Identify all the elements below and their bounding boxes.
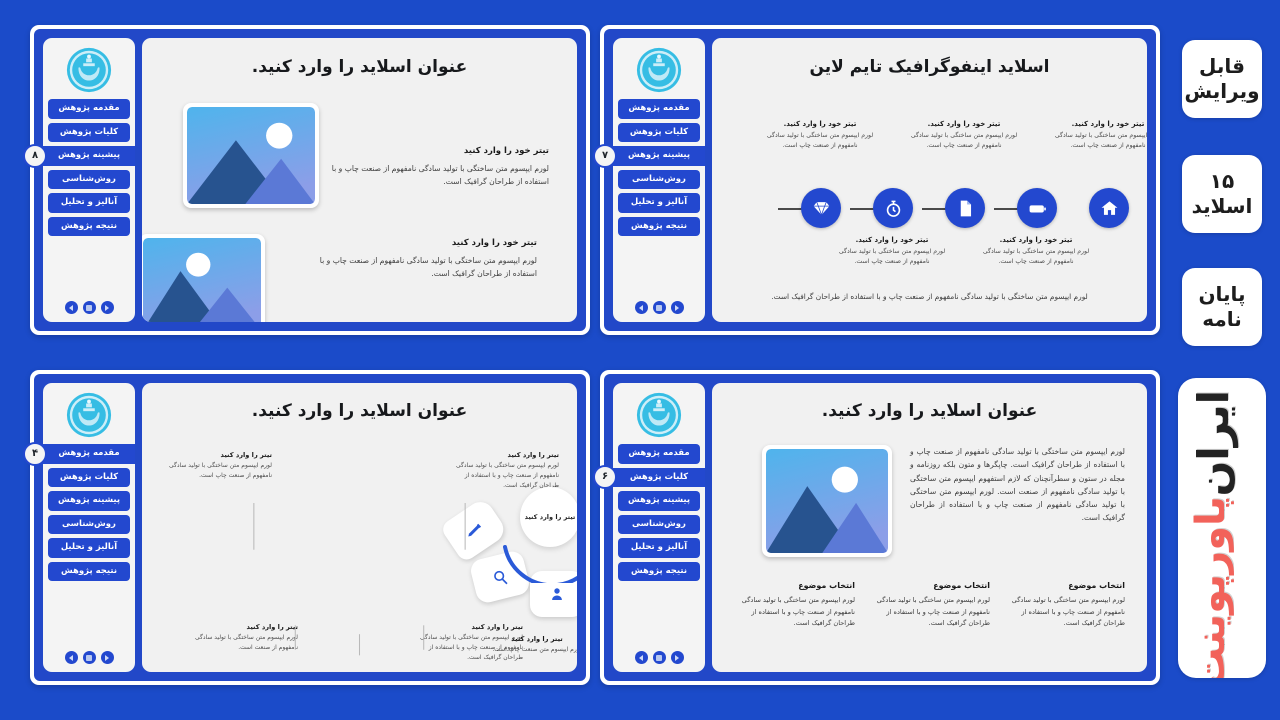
- timeline-caption-4-heading: تیتر خود را وارد کنید.: [761, 120, 879, 128]
- slide-4-column-1-text: لورم ایپسوم متن ساختگی با تولید سادگی نا…: [869, 595, 990, 630]
- slide-3-nav-controls: [65, 646, 114, 666]
- document-icon: [956, 199, 975, 218]
- slide-4-column-2: انتخاب موضوع لورم ایپسوم متن ساختگی با ت…: [734, 581, 855, 630]
- feature-chip-editable-line2: ویرایش: [1184, 79, 1259, 104]
- menu-item-1[interactable]: کلیات پژوهش: [618, 123, 700, 143]
- slide-1-block-0-heading: تیتر خود را وارد کنید: [331, 146, 549, 156]
- feature-chip-thesis-line2: نامه: [1202, 307, 1242, 332]
- timeline-caption-0-heading: تیتر خود را وارد کنید.: [1049, 120, 1147, 128]
- fan-petal-0[interactable]: [439, 497, 508, 564]
- slide-2-sidebar: مقدمه پژوهش کلیات پژوهش پیشینه پژوهش ۷ ر…: [613, 38, 705, 322]
- slide-4-menu: مقدمه پژوهش کلیات پژوهش ۶ پیشینه پژوهش ر…: [618, 444, 700, 646]
- slide-4-column-0: انتخاب موضوع لورم ایپسوم متن ساختگی با ت…: [1004, 581, 1125, 630]
- prev-triangle-icon[interactable]: [671, 301, 684, 314]
- slide-4-nav-controls: [635, 646, 684, 666]
- slide-2-canvas: اسلاید اینفوگرافیک تایم لاین: [712, 38, 1147, 322]
- menu-item-4[interactable]: آنالیز و تحلیل: [618, 193, 700, 213]
- slide-3-sidebar: مقدمه پژوهش ۴ کلیات پژوهش پیشینه پژوهش ر…: [43, 383, 135, 672]
- next-triangle-icon[interactable]: [635, 301, 648, 314]
- menu-item-3[interactable]: روش‌شناسی: [48, 515, 130, 535]
- menu-item-4[interactable]: آنالیز و تحلیل: [48, 193, 130, 213]
- university-logo-icon: [65, 391, 113, 439]
- timeline-caption-3-heading: تیتر خود را وارد کنید.: [833, 236, 951, 244]
- prev-triangle-icon[interactable]: [101, 301, 114, 314]
- slide-1-block-0: تیتر خود را وارد کنید لورم ایپسوم متن سا…: [331, 146, 549, 189]
- slide-4-column-0-heading: انتخاب موضوع: [1004, 581, 1125, 590]
- slide-3-menu: مقدمه پژوهش ۴ کلیات پژوهش پیشینه پژوهش ر…: [48, 444, 130, 646]
- fan-caption-3: تیتر را وارد کنید لورم ایپسوم متن ساختگی…: [186, 623, 298, 653]
- fan-caption-3-heading: تیتر را وارد کنید: [186, 623, 298, 631]
- feature-chip-slide-count-line1: ۱۵: [1210, 169, 1234, 194]
- slide-2-nav-controls: [635, 296, 684, 316]
- slide-2[interactable]: مقدمه پژوهش کلیات پژوهش پیشینه پژوهش ۷ ر…: [600, 25, 1160, 335]
- menu-item-2-label: پیشینه پژوهش: [628, 150, 690, 160]
- fan-center-text: تیتر را وارد کنید: [525, 513, 576, 521]
- gem-icon: [812, 199, 831, 218]
- menu-item-0[interactable]: مقدمه پژوهش ۴: [43, 444, 135, 464]
- slide-1-block-0-text: لورم ایپسوم متن ساختگی با تولید سادگی نا…: [331, 162, 549, 189]
- fan-petal-1[interactable]: [468, 549, 531, 605]
- timeline-caption-2-text: لورم ایپسوم متن ساختگی با تولید سادگی نا…: [905, 131, 1023, 151]
- slide-4-photo: [762, 445, 892, 557]
- slide-3[interactable]: مقدمه پژوهش ۴ کلیات پژوهش پیشینه پژوهش ر…: [30, 370, 590, 685]
- slide-number-badge: ۸: [23, 144, 47, 168]
- stop-square-icon[interactable]: [83, 651, 96, 664]
- fan-caption-4-heading: تیتر را وارد کنید: [160, 451, 272, 459]
- slide-1[interactable]: مقدمه پژوهش کلیات پژوهش پیشینه پژوهش ۸ ر…: [30, 25, 590, 335]
- brand-name-red: پاورپوینت: [1186, 496, 1236, 678]
- timeline-node-2[interactable]: [945, 188, 985, 228]
- feature-chip-editable-line1: قابل: [1199, 54, 1245, 79]
- fan-petal-2[interactable]: [530, 571, 577, 617]
- menu-item-0[interactable]: مقدمه پژوهش: [618, 99, 700, 119]
- timeline-caption-1: تیتر خود را وارد کنید. لورم ایپسوم متن س…: [977, 236, 1095, 267]
- feature-chip-slide-count-line2: اسلاید: [1192, 194, 1253, 219]
- slide-4-column-2-heading: انتخاب موضوع: [734, 581, 855, 590]
- fan-center-label: تیتر را وارد کنید: [520, 487, 577, 547]
- fan-caption-2: تیتر را وارد کنید لورم ایپسوم متن صنعت چ…: [487, 635, 577, 655]
- slide-4-column-1: انتخاب موضوع لورم ایپسوم متن ساختگی با ت…: [869, 581, 990, 630]
- stopwatch-icon: [884, 199, 903, 218]
- fan-caption-3-text: لورم ایپسوم متن ساختگی با تولید سادگی نا…: [186, 633, 298, 653]
- university-logo-icon: [635, 46, 683, 94]
- timeline-node-3[interactable]: [873, 188, 913, 228]
- fan-caption-0-heading: تیتر را وارد کنید: [447, 451, 559, 459]
- timeline-caption-4-text: لورم ایپسوم متن ساختگی با تولید سادگی نا…: [761, 131, 879, 151]
- slide-1-menu: مقدمه پژوهش کلیات پژوهش پیشینه پژوهش ۸ ر…: [48, 99, 130, 296]
- timeline-node-0[interactable]: [1089, 188, 1129, 228]
- slide-2-menu: مقدمه پژوهش کلیات پژوهش پیشینه پژوهش ۷ ر…: [618, 99, 700, 296]
- feature-chip-thesis: پایان نامه: [1182, 268, 1262, 346]
- timeline-caption-1-text: لورم ایپسوم متن ساختگی با تولید سادگی نا…: [977, 247, 1095, 267]
- feature-chip-editable: قابل ویرایش: [1182, 40, 1262, 118]
- next-triangle-icon[interactable]: [635, 651, 648, 664]
- timeline-caption-3-text: لورم ایپسوم متن ساختگی با تولید سادگی نا…: [833, 247, 951, 267]
- slide-number-badge: ۶: [593, 465, 617, 489]
- menu-item-5[interactable]: نتیجه پژوهش: [48, 217, 130, 237]
- timeline-caption-2: تیتر خود را وارد کنید. لورم ایپسوم متن س…: [905, 120, 1023, 151]
- menu-item-1[interactable]: کلیات پژوهش: [48, 123, 130, 143]
- fan-caption-0: تیتر را وارد کنید لورم ایپسوم متن ساختگی…: [447, 451, 559, 492]
- next-triangle-icon[interactable]: [65, 301, 78, 314]
- fan-caption-2-heading: تیتر را وارد کنید: [487, 635, 577, 643]
- timeline-caption-1-heading: تیتر خود را وارد کنید.: [977, 236, 1095, 244]
- slide-2-footer-text: لورم ایپسوم متن ساختگی با تولید سادگی نا…: [728, 291, 1131, 304]
- menu-item-2[interactable]: پیشینه پژوهش: [48, 491, 130, 511]
- menu-item-5[interactable]: نتیجه پژوهش: [618, 562, 700, 582]
- slide-number-badge: ۴: [23, 442, 47, 466]
- magnifier-icon: [492, 569, 509, 586]
- menu-item-0[interactable]: مقدمه پژوهش: [48, 99, 130, 119]
- slide-3-title: عنوان اسلاید را وارد کنید.: [162, 401, 557, 421]
- timeline-caption-2-heading: تیتر خود را وارد کنید.: [905, 120, 1023, 128]
- menu-item-2[interactable]: پیشینه پژوهش ۷: [613, 146, 705, 166]
- timeline-node-1[interactable]: [1017, 188, 1057, 228]
- slide-4-paragraph: لورم ایپسوم متن ساختگی با تولید سادگی نا…: [910, 445, 1125, 525]
- menu-item-5[interactable]: نتیجه پژوهش: [48, 562, 130, 582]
- stop-square-icon[interactable]: [653, 651, 666, 664]
- brand-name-dark: ایران: [1188, 390, 1241, 497]
- poster-canvas: مقدمه پژوهش کلیات پژوهش پیشینه پژوهش ۸ ر…: [0, 0, 1280, 720]
- fan-caption-1-heading: تیتر را وارد کنید: [411, 623, 523, 631]
- slide-1-nav-controls: [65, 296, 114, 316]
- timeline-caption-0: تیتر خود را وارد کنید. لورم ایپسوم متن س…: [1049, 120, 1147, 151]
- menu-item-4[interactable]: آنالیز و تحلیل: [618, 538, 700, 558]
- slide-1-block-1: تیتر خود را وارد کنید لورم ایپسوم متن سا…: [319, 238, 537, 281]
- slide-2-title: اسلاید اینفوگرافیک تایم لاین: [732, 57, 1127, 77]
- menu-item-0-label: مقدمه پژوهش: [58, 448, 119, 458]
- fan-caption-4-text: لورم ایپسوم متن ساختگی با تولید سادگی نا…: [160, 461, 272, 481]
- slide-1-block-1-text: لورم ایپسوم متن ساختگی با تولید سادگی نا…: [319, 254, 537, 281]
- battery-icon: [1028, 199, 1047, 218]
- slide-4-column-0-text: لورم ایپسوم متن ساختگی با تولید سادگی نا…: [1004, 595, 1125, 630]
- slide-1-sidebar: مقدمه پژوهش کلیات پژوهش پیشینه پژوهش ۸ ر…: [43, 38, 135, 322]
- feature-chip-thesis-line1: پایان: [1198, 282, 1245, 307]
- slide-4-sidebar: مقدمه پژوهش کلیات پژوهش ۶ پیشینه پژوهش ر…: [613, 383, 705, 672]
- menu-item-4[interactable]: آنالیز و تحلیل: [48, 538, 130, 558]
- prev-triangle-icon[interactable]: [101, 651, 114, 664]
- menu-item-1-label: کلیات پژوهش: [630, 472, 688, 482]
- feature-chip-slide-count: ۱۵ اسلاید: [1182, 155, 1262, 233]
- slide-number-badge: ۷: [593, 144, 617, 168]
- slide-1-block-1-heading: تیتر خود را وارد کنید: [319, 238, 537, 248]
- slide-4-title: عنوان اسلاید را وارد کنید.: [732, 401, 1127, 421]
- timeline-caption-3: تیتر خود را وارد کنید. لورم ایپسوم متن س…: [833, 236, 951, 267]
- home-icon: [1100, 199, 1119, 218]
- slide-1-photo-bottom: [142, 234, 265, 322]
- user-group-icon: [548, 585, 566, 603]
- fan-caption-2-text: لورم ایپسوم متن صنعت چاپ است.: [487, 645, 577, 655]
- menu-item-2[interactable]: پیشینه پژوهش ۸: [43, 146, 135, 166]
- menu-item-0[interactable]: مقدمه پژوهش: [618, 444, 700, 464]
- slide-4-column-2-text: لورم ایپسوم متن ساختگی با تولید سادگی نا…: [734, 595, 855, 630]
- slide-3-canvas: عنوان اسلاید را وارد کنید.: [142, 383, 577, 672]
- timeline-caption-4: تیتر خود را وارد کنید. لورم ایپسوم متن س…: [761, 120, 879, 151]
- university-logo-icon: [635, 391, 683, 439]
- timeline-node-4[interactable]: [801, 188, 841, 228]
- slide-1-canvas: عنوان اسلاید را وارد کنید. تیتر خود را و…: [142, 38, 577, 322]
- stop-square-icon[interactable]: [653, 301, 666, 314]
- slide-1-photo-top: [183, 103, 319, 208]
- brand-badge: ایران پاورپوینت: [1178, 378, 1266, 678]
- menu-item-3[interactable]: روش‌شناسی: [618, 515, 700, 535]
- slide-4-canvas: عنوان اسلاید را وارد کنید. لورم ایپسوم م…: [712, 383, 1147, 672]
- menu-item-2-label: پیشینه پژوهش: [58, 150, 120, 160]
- slide-4-columns: انتخاب موضوع لورم ایپسوم متن ساختگی با ت…: [734, 581, 1125, 630]
- slide-4[interactable]: مقدمه پژوهش کلیات پژوهش ۶ پیشینه پژوهش ر…: [600, 370, 1160, 685]
- menu-item-5[interactable]: نتیجه پژوهش: [618, 217, 700, 237]
- menu-item-1[interactable]: کلیات پژوهش: [48, 468, 130, 488]
- slide-1-title: عنوان اسلاید را وارد کنید.: [162, 57, 557, 77]
- menu-item-2[interactable]: پیشینه پژوهش: [618, 491, 700, 511]
- slide-4-column-1-heading: انتخاب موضوع: [869, 581, 990, 590]
- menu-item-1[interactable]: کلیات پژوهش ۶: [613, 468, 705, 488]
- timeline-caption-0-text: لورم ایپسوم متن ساختگی با تولید سادگی نا…: [1049, 131, 1147, 151]
- prev-triangle-icon[interactable]: [671, 651, 684, 664]
- university-logo-icon: [65, 46, 113, 94]
- stop-square-icon[interactable]: [83, 301, 96, 314]
- next-triangle-icon[interactable]: [65, 651, 78, 664]
- pencil-icon: [466, 522, 483, 539]
- menu-item-3[interactable]: روش‌شناسی: [48, 170, 130, 190]
- menu-item-3[interactable]: روش‌شناسی: [618, 170, 700, 190]
- fan-caption-4: تیتر را وارد کنید لورم ایپسوم متن ساختگی…: [160, 451, 272, 481]
